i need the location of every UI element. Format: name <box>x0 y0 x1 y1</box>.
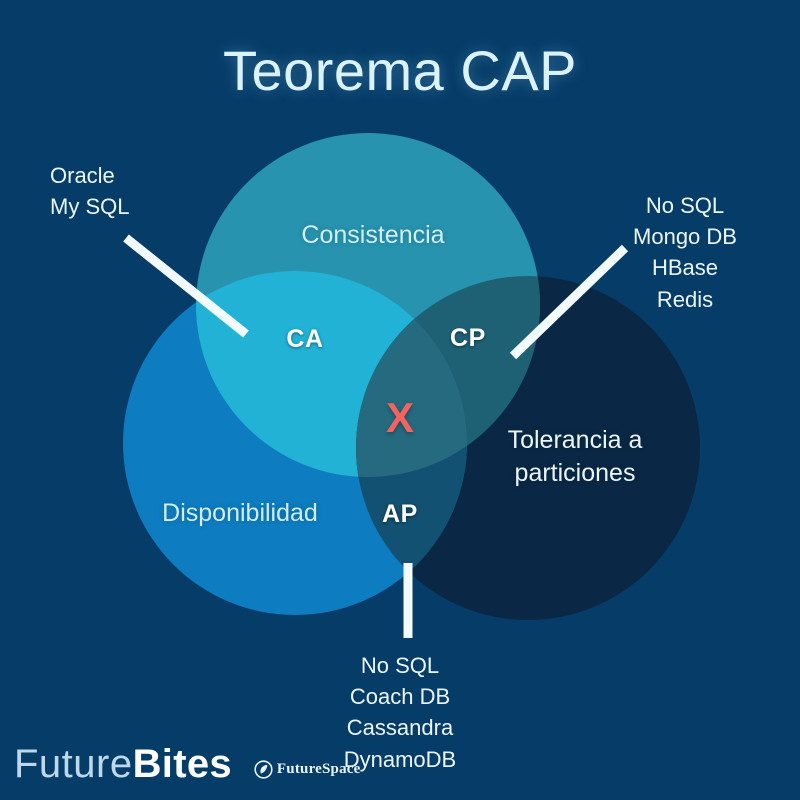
diagram-canvas: Teorema CAP Con <box>0 0 800 800</box>
label-ca: CA <box>265 325 345 354</box>
brand-bites: Bites <box>133 742 232 787</box>
label-tolerancia-particiones: Tolerancia a particiones <box>470 424 680 490</box>
footer-logo: Future Bites FutureSpace <box>14 742 361 787</box>
sub-brand: FutureSpace <box>254 760 361 779</box>
callout-oracle-mysql: Oracle My SQL <box>50 160 250 222</box>
label-ap: AP <box>360 500 440 529</box>
sub-brand-label: FutureSpace <box>277 761 361 778</box>
label-disponibilidad: Disponibilidad <box>110 497 370 530</box>
callout-nosql-cp: No SQL Mongo DB HBase Redis <box>595 190 775 315</box>
futurespace-leaf-icon <box>254 760 273 779</box>
label-cp: CP <box>428 324 508 353</box>
center-x-marker: X <box>360 394 440 442</box>
brand-future: Future <box>14 742 133 787</box>
label-consistencia: Consistencia <box>228 219 518 252</box>
